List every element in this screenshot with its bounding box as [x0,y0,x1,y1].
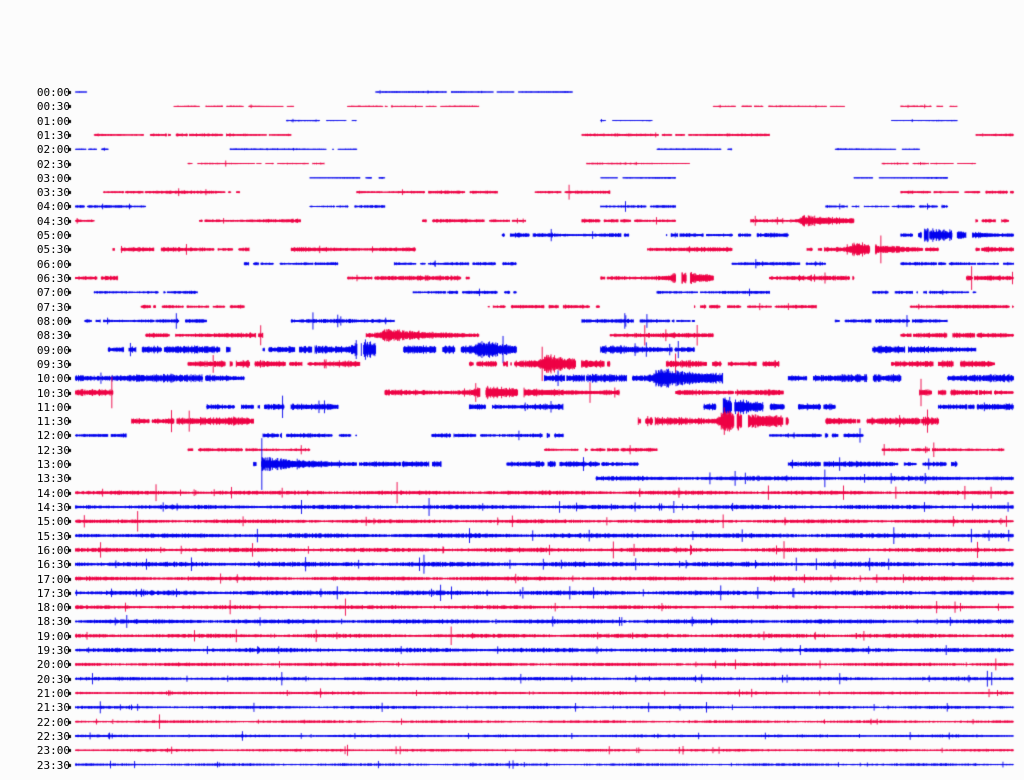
time-label: 10:30 [22,387,70,400]
time-label: 08:00 [22,315,70,328]
time-label: 14:00 [22,487,70,500]
time-label: 02:00 [22,143,70,156]
time-label: 13:00 [22,458,70,471]
time-label: 01:00 [22,115,70,128]
time-label: 12:30 [22,444,70,457]
waveform-canvas [0,0,1024,780]
time-label: 16:30 [22,558,70,571]
time-label: 13:30 [22,472,70,485]
time-label: 22:00 [22,716,70,729]
time-label: 16:00 [22,544,70,557]
time-label: 06:30 [22,272,70,285]
time-label: 23:00 [22,744,70,757]
time-label: 04:30 [22,215,70,228]
time-label: 19:30 [22,644,70,657]
time-label: 23:30 [22,759,70,772]
time-label: 22:30 [22,730,70,743]
time-label: 20:00 [22,658,70,671]
helicorder-plot-area: 00:0000:3001:0001:3002:0002:3003:0003:30… [0,0,1024,780]
time-label: 09:30 [22,358,70,371]
time-label: 18:30 [22,615,70,628]
time-label: 02:30 [22,158,70,171]
time-label: 21:00 [22,687,70,700]
time-label: 15:30 [22,530,70,543]
time-label: 00:00 [22,86,70,99]
time-label: 04:00 [22,200,70,213]
time-label: 08:30 [22,329,70,342]
time-label: 11:30 [22,415,70,428]
time-label: 07:30 [22,301,70,314]
time-label: 17:30 [22,587,70,600]
time-label: 05:30 [22,243,70,256]
time-label: 15:00 [22,515,70,528]
time-label: 00:30 [22,100,70,113]
time-label: 09:00 [22,344,70,357]
time-label: 19:00 [22,630,70,643]
time-label: 14:30 [22,501,70,514]
time-label: 11:00 [22,401,70,414]
time-label: 10:00 [22,372,70,385]
time-label: 12:00 [22,429,70,442]
time-label: 18:00 [22,601,70,614]
time-label: 20:30 [22,673,70,686]
time-label: 07:00 [22,286,70,299]
helicorder-page: HT Santorini - Imerovigli Applied filter… [0,0,1024,780]
time-label: 21:30 [22,701,70,714]
time-label: 01:30 [22,129,70,142]
time-label: 05:00 [22,229,70,242]
time-label: 03:00 [22,172,70,185]
time-label: 17:00 [22,573,70,586]
time-label: 03:30 [22,186,70,199]
time-label: 06:00 [22,258,70,271]
